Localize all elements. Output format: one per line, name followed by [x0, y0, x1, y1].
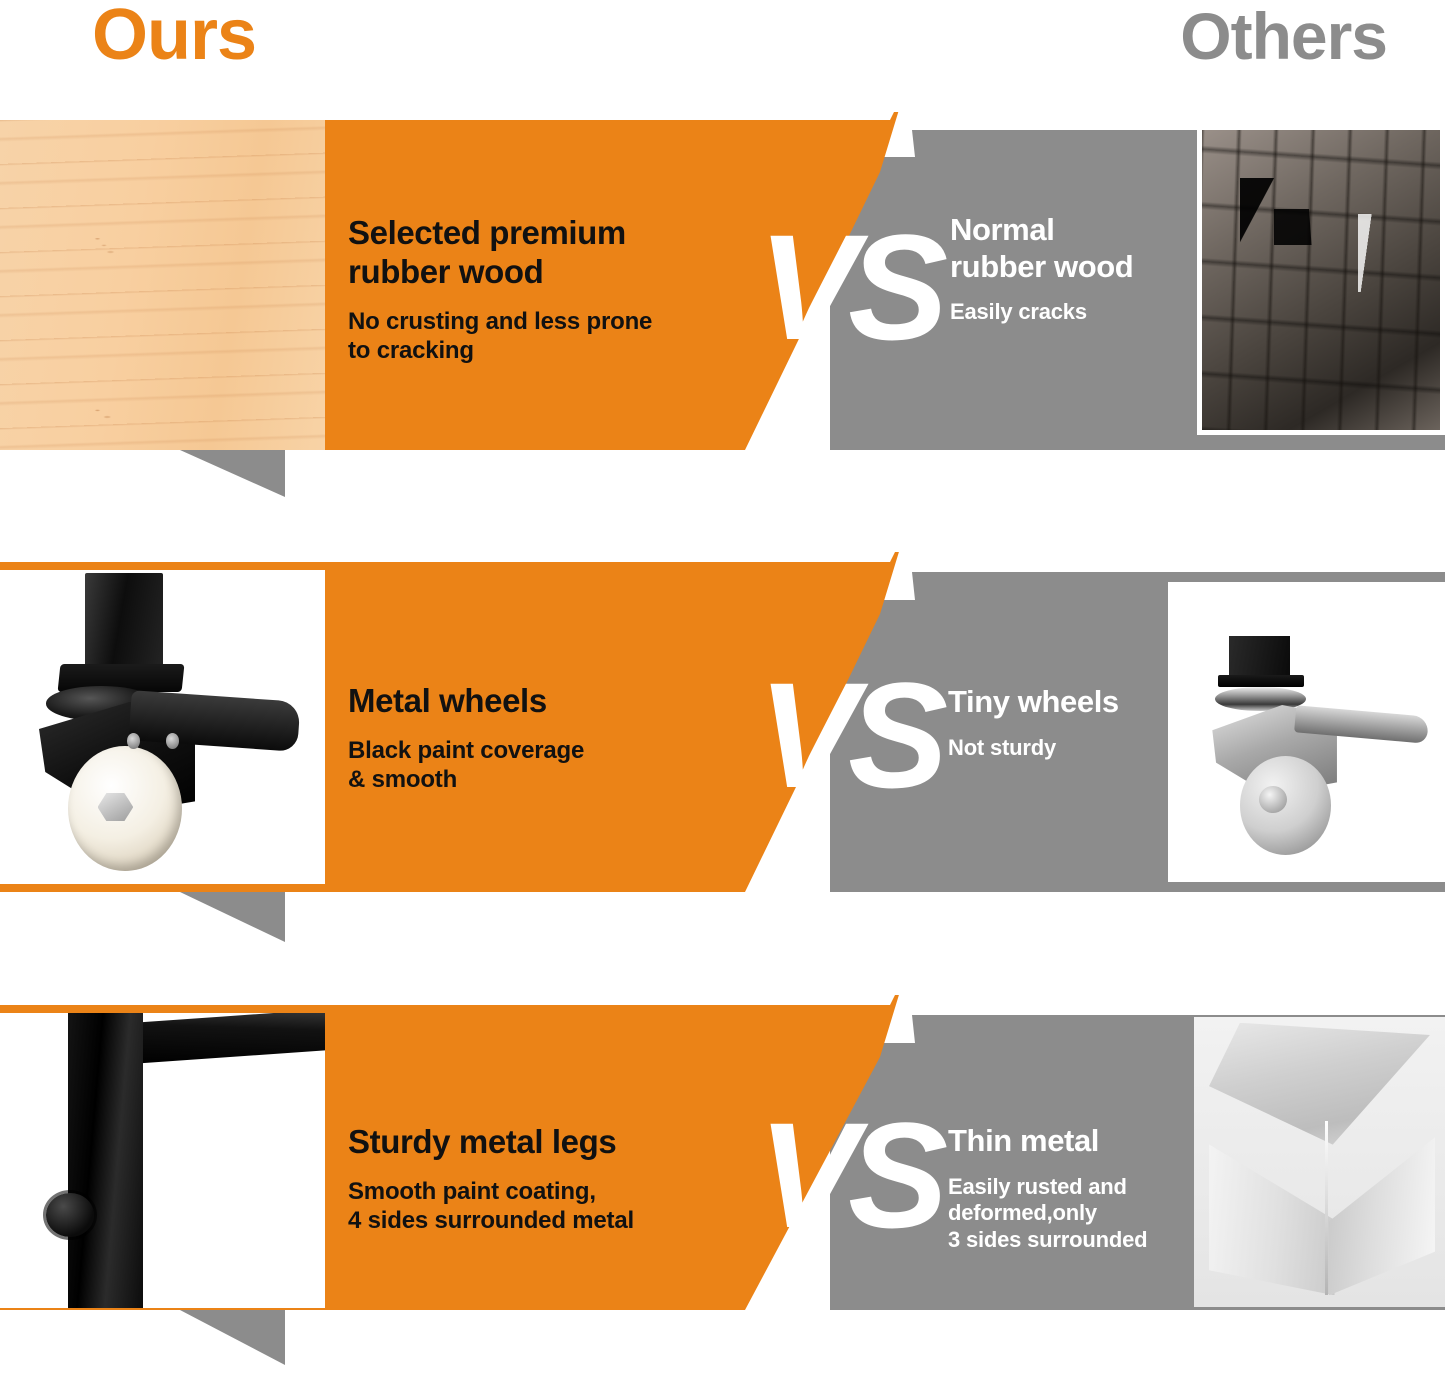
- comparison-row-1: Selected premium rubber wood No crusting…: [0, 112, 1445, 502]
- black-metal-leg-photo: [0, 1013, 325, 1308]
- row-2-vs-badge: VS: [758, 660, 938, 810]
- row-3-ours-text: Sturdy metal legs Smooth paint coating, …: [348, 1123, 728, 1235]
- black-metal-caster-photo: [0, 570, 325, 884]
- tiny-silver-caster-photo: [1168, 582, 1445, 882]
- silver-caster-axle-bolt: [1259, 786, 1287, 813]
- silver-caster-wheel: [1240, 756, 1331, 855]
- ours-heading: Ours: [92, 0, 256, 74]
- comparison-infographic: Ours Others Selected premium rubber wood…: [0, 0, 1445, 1382]
- row-1-ours-subtitle: No crusting and less prone to cracking: [348, 307, 708, 366]
- row-3-vs-badge: VS: [758, 1100, 938, 1250]
- steel-top-face: [1209, 1023, 1430, 1145]
- silver-caster-flange: [1218, 675, 1304, 687]
- premium-rubber-wood-photo: [0, 120, 325, 450]
- row-3-others-title: Thin metal: [948, 1123, 1208, 1160]
- steel-right-face: [1325, 1127, 1435, 1295]
- caster-leg-tube: [85, 573, 163, 677]
- metal-leg-post: [68, 1013, 143, 1308]
- steel-corner-edge: [1325, 1121, 1329, 1295]
- row-1-ours-title: Selected premium rubber wood: [348, 214, 708, 292]
- comparison-row-2: Metal wheels Black paint coverage & smoo…: [0, 552, 1445, 952]
- cracked-wood-photo: [1197, 125, 1445, 435]
- row-3-ours-subtitle: Smooth paint coating, 4 sides surrounded…: [348, 1177, 728, 1236]
- row-2-ours-text: Metal wheels Black paint coverage & smoo…: [348, 682, 708, 794]
- row-1-others-subtitle: Easily cracks: [950, 299, 1200, 326]
- row-2-others-text: Tiny wheels Not sturdy: [948, 684, 1198, 761]
- row-2-ours-subtitle: Black paint coverage & smooth: [348, 736, 708, 795]
- row-3-others-text: Thin metal Easily rusted and deformed,on…: [948, 1123, 1208, 1254]
- steel-left-face: [1209, 1116, 1335, 1296]
- caster-screw-2: [166, 733, 179, 749]
- metal-leg-rail: [130, 1013, 325, 1064]
- row-2-others-title: Tiny wheels: [948, 684, 1198, 721]
- comparison-row-3: Sturdy metal legs Smooth paint coating, …: [0, 995, 1445, 1382]
- row-1-vs-badge: VS: [758, 212, 938, 362]
- row-2-others-subtitle: Not sturdy: [948, 735, 1198, 762]
- caster-screw-1: [127, 733, 140, 749]
- row-3-others-subtitle: Easily rusted and deformed,only 3 sides …: [948, 1174, 1208, 1254]
- thin-steel-corner-photo: [1194, 1017, 1445, 1307]
- row-1-others-title: Normal rubber wood: [950, 212, 1200, 285]
- row-2-ours-title: Metal wheels: [348, 682, 708, 721]
- metal-leg-knob: [46, 1193, 95, 1237]
- others-heading: Others: [1180, 2, 1387, 71]
- row-3-ours-title: Sturdy metal legs: [348, 1123, 728, 1162]
- row-1-ours-text: Selected premium rubber wood No crusting…: [348, 214, 708, 365]
- row-1-others-text: Normal rubber wood Easily cracks: [950, 212, 1200, 326]
